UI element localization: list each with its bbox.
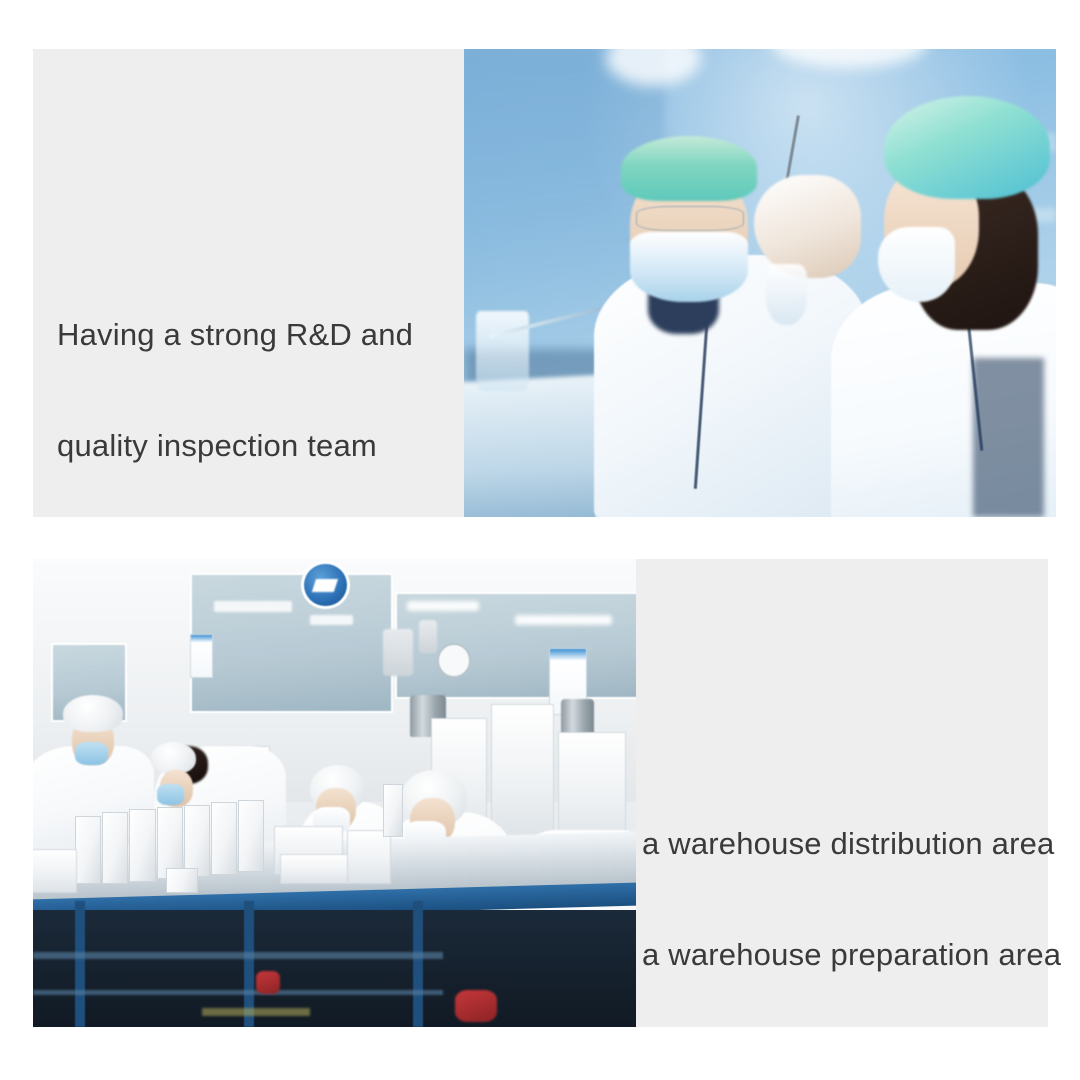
carton-box xyxy=(75,816,101,884)
lab-flask-icon xyxy=(766,264,807,325)
cleanroom-wall-sign-icon xyxy=(301,561,349,609)
warehouse-worker-hairnet xyxy=(63,695,123,732)
table-rail xyxy=(33,952,443,959)
wall-notice-poster xyxy=(190,634,213,678)
warehouse-caption: a warehouse distribution area a warehous… xyxy=(642,751,1042,1010)
ceiling-light-icon xyxy=(515,615,611,625)
carton-box xyxy=(211,802,237,874)
lab-technician-a-face-mask xyxy=(630,232,748,302)
wall-clock-icon xyxy=(437,643,471,677)
warehouse-scene xyxy=(33,559,636,1027)
table-leg xyxy=(413,901,423,1027)
lab-ceiling-light-icon xyxy=(772,49,926,68)
carton-stack xyxy=(33,849,77,893)
carton-box xyxy=(238,800,264,872)
warehouse-caption-line-2: a warehouse preparation area xyxy=(642,936,1042,973)
lab-technician-a-coat xyxy=(594,255,866,517)
lab-scene xyxy=(464,49,1056,517)
rnd-quality-photo xyxy=(464,49,1056,517)
carton-box xyxy=(129,809,155,881)
carton-stack xyxy=(558,732,626,846)
cleanroom-window-light-icon xyxy=(214,601,292,612)
carton-box xyxy=(184,805,210,877)
carton-stack xyxy=(491,704,553,842)
rnd-quality-caption-line-1: Having a strong R&D and xyxy=(57,316,457,353)
warehouse-worker-face-mask xyxy=(75,742,108,765)
rnd-quality-caption-line-2: quality inspection team xyxy=(57,427,457,464)
cleanroom-window-light-icon xyxy=(310,615,352,624)
carton-stack xyxy=(347,830,391,883)
air-duct-icon xyxy=(419,620,437,653)
air-duct-icon xyxy=(383,629,413,676)
carton-box xyxy=(102,812,128,884)
warehouse-worker-face-mask xyxy=(157,784,184,805)
packing-table-undershelf xyxy=(33,910,636,1027)
lab-technician-a-goggles-icon xyxy=(636,206,745,231)
warehouse-photo xyxy=(33,559,636,1027)
table-rail xyxy=(33,990,443,996)
ceiling-light-icon xyxy=(407,601,479,611)
lab-technician-b-hairnet xyxy=(884,96,1050,199)
cleanroom-window xyxy=(190,573,393,713)
worker-shoe xyxy=(256,971,280,994)
lab-stand-icon xyxy=(973,358,1044,517)
rnd-quality-caption: Having a strong R&D and quality inspecti… xyxy=(57,242,457,501)
warehouse-caption-line-1: a warehouse distribution area xyxy=(642,825,1042,862)
lab-beaker-icon xyxy=(476,311,529,391)
carton-box xyxy=(383,784,403,837)
carton-stack xyxy=(280,854,348,884)
carton-box xyxy=(166,868,198,893)
lab-technician-a-hairnet xyxy=(621,136,757,202)
table-leg xyxy=(75,901,85,1027)
floor-marking-stripe xyxy=(202,1008,311,1015)
worker-shoe xyxy=(455,990,497,1023)
